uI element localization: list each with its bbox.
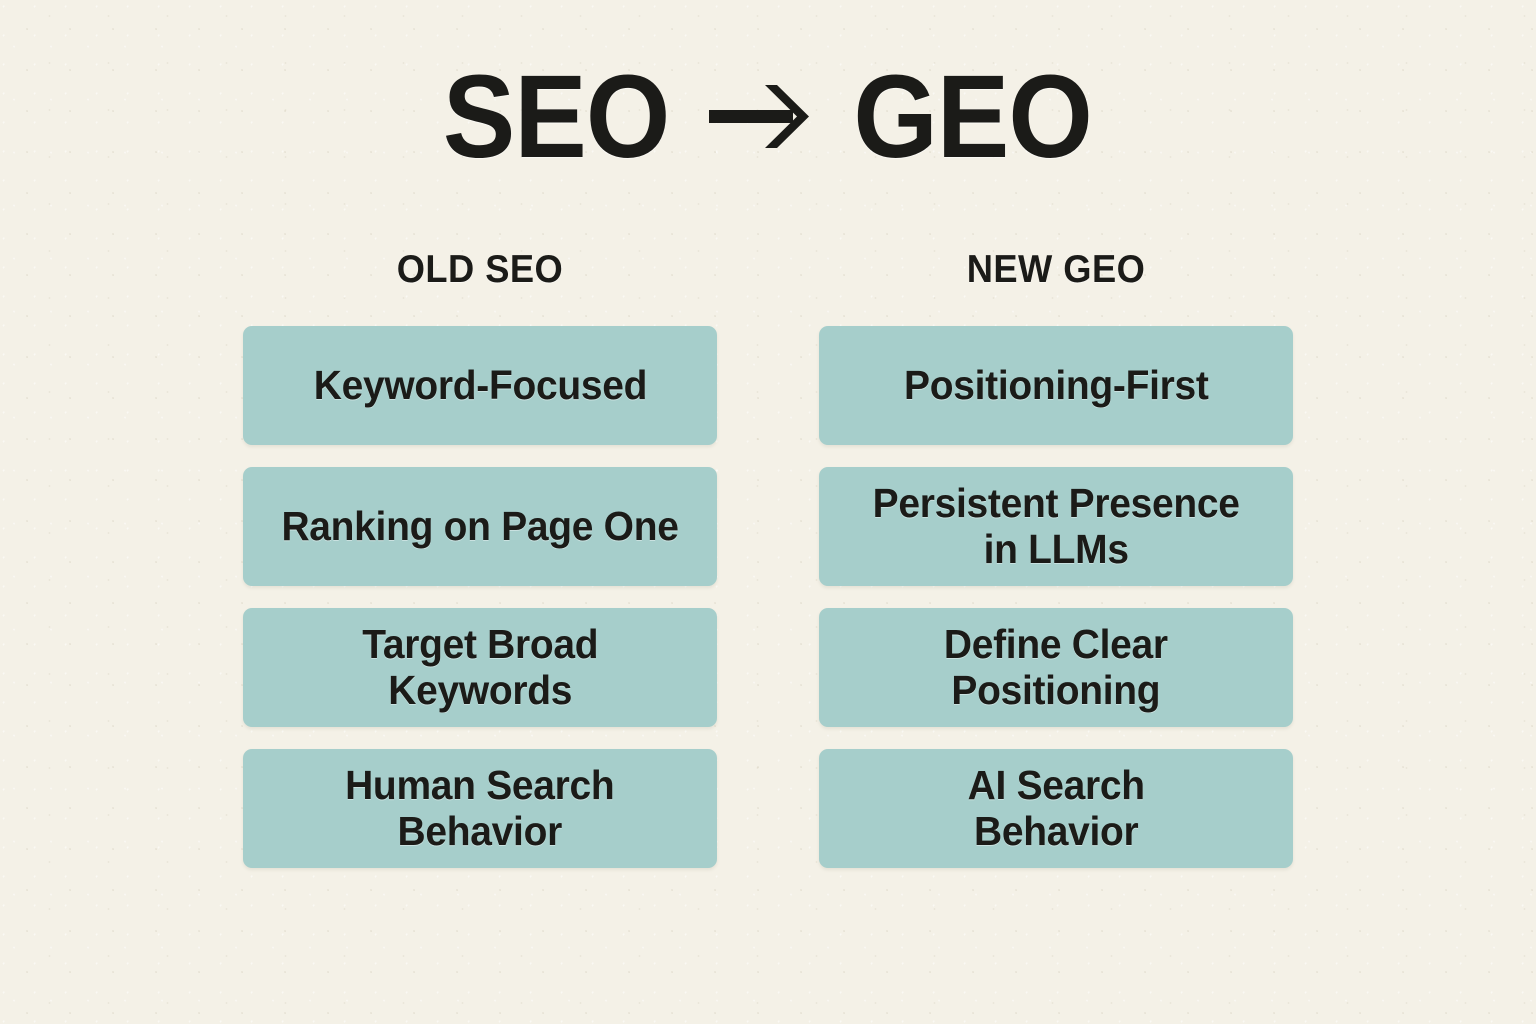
- column-header-new-geo: NEW GEO: [836, 240, 1277, 300]
- card-label: Target Broad Keywords: [362, 622, 598, 714]
- card-new-geo-2[interactable]: Persistent Presence in LLMs: [819, 467, 1293, 586]
- infographic-canvas: SEO GEO OLD SEO Keyword-Focused Ranking …: [0, 0, 1536, 1024]
- card-new-geo-4[interactable]: AI Search Behavior: [819, 749, 1293, 868]
- arrow-right-icon: [705, 75, 817, 159]
- card-new-geo-3[interactable]: Define Clear Positioning: [819, 608, 1293, 727]
- card-old-seo-4[interactable]: Human Search Behavior: [243, 749, 717, 868]
- column-header-old-seo: OLD SEO: [260, 240, 701, 300]
- card-label: Keyword-Focused: [313, 363, 646, 409]
- title-word-seo: SEO: [443, 58, 670, 176]
- card-old-seo-1[interactable]: Keyword-Focused: [243, 326, 717, 445]
- page-title: SEO GEO: [0, 52, 1536, 182]
- column-new-geo: NEW GEO Positioning-First Persistent Pre…: [819, 240, 1293, 868]
- column-old-seo: OLD SEO Keyword-Focused Ranking on Page …: [243, 240, 717, 868]
- card-old-seo-3[interactable]: Target Broad Keywords: [243, 608, 717, 727]
- card-label: Ranking on Page One: [281, 504, 678, 550]
- title-word-geo: GEO: [854, 58, 1093, 176]
- card-list-old-seo: Keyword-Focused Ranking on Page One Targ…: [243, 326, 717, 868]
- card-old-seo-2[interactable]: Ranking on Page One: [243, 467, 717, 586]
- card-new-geo-1[interactable]: Positioning-First: [819, 326, 1293, 445]
- card-label: Persistent Presence in LLMs: [873, 481, 1240, 573]
- card-label: AI Search Behavior: [967, 763, 1144, 855]
- card-label: Define Clear Positioning: [944, 622, 1168, 714]
- card-list-new-geo: Positioning-First Persistent Presence in…: [819, 326, 1293, 868]
- comparison-columns: OLD SEO Keyword-Focused Ranking on Page …: [243, 240, 1293, 868]
- card-label: Positioning-First: [904, 363, 1209, 409]
- card-label: Human Search Behavior: [345, 763, 614, 855]
